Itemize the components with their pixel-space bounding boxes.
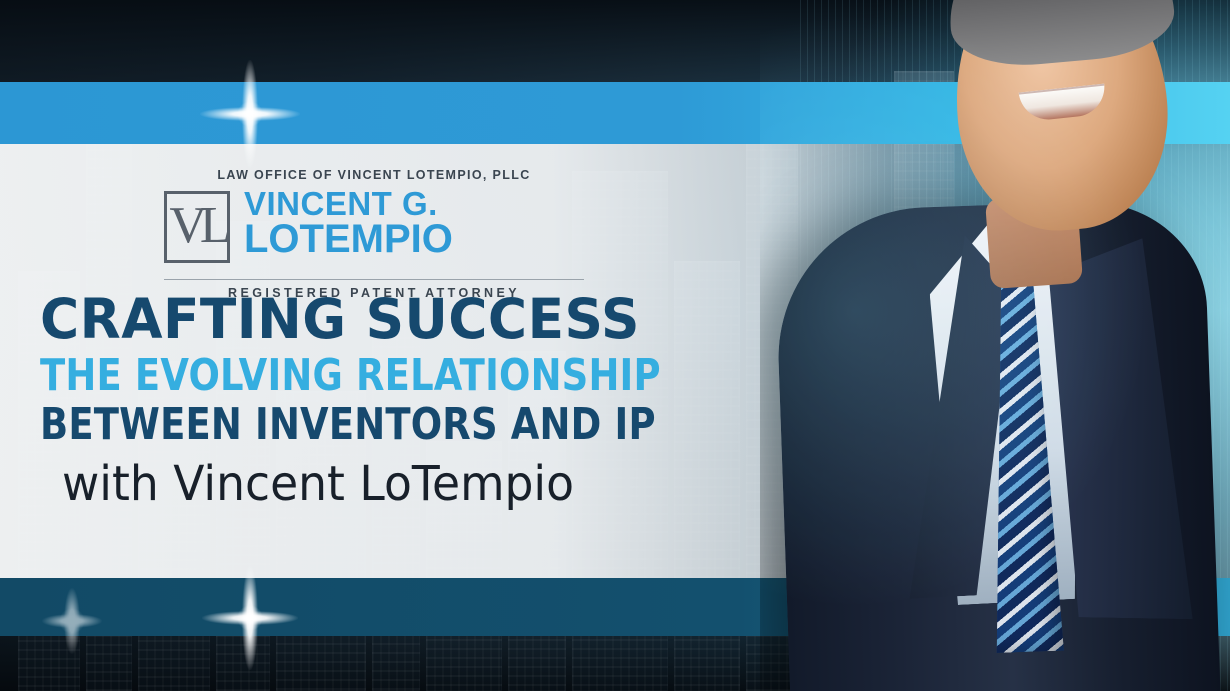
headline-line-2: THE EVOLVING RELATIONSHIP [40, 353, 678, 400]
logo-name-first: VINCENT G. [244, 187, 453, 221]
title-card: LAW OFFICE OF VINCENT LOTEMPIO, PLLC VL … [0, 0, 1230, 691]
logo-name-last: LOTEMPIO [244, 219, 453, 260]
logo-divider [164, 279, 584, 280]
logo-mark-row: VL VINCENT G. LOTEMPIO [164, 189, 584, 273]
logo-lockup: LAW OFFICE OF VINCENT LOTEMPIO, PLLC VL … [164, 168, 584, 300]
monogram-icon: VL [164, 191, 230, 263]
monogram-letters: VL [167, 194, 227, 260]
headline-line-1: CRAFTING SUCCESS [40, 292, 777, 347]
headline-block: CRAFTING SUCCESS THE EVOLVING RELATIONSH… [40, 292, 800, 511]
presenter-photo [760, 0, 1230, 691]
logo-wordmark: VINCENT G. LOTEMPIO [244, 187, 453, 260]
headline-line-3: BETWEEN INVENTORS AND IP [40, 402, 678, 449]
headline-presenter-line: with Vincent LoTempio [62, 458, 763, 511]
logo-firm-line: LAW OFFICE OF VINCENT LOTEMPIO, PLLC [164, 168, 584, 182]
